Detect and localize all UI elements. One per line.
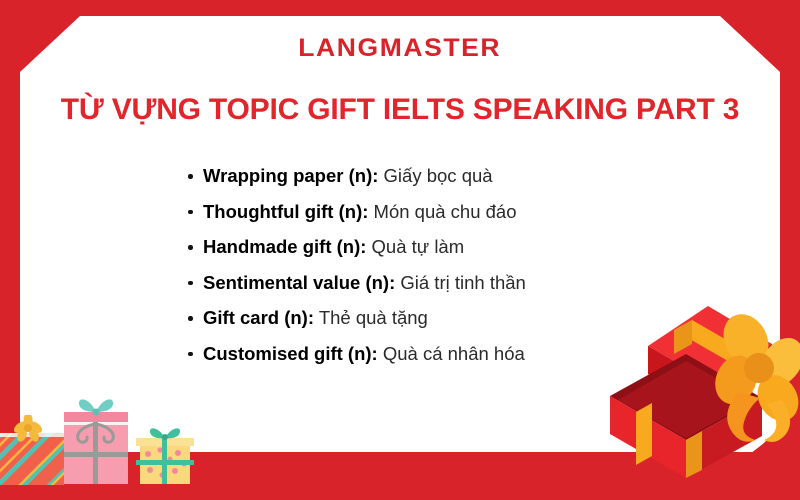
list-item: Gift card (n): Thẻ quà tặng [186, 307, 706, 329]
vocab-term: Gift card (n): [203, 307, 314, 328]
vocab-term: Thoughtful gift (n): [203, 201, 368, 222]
vocab-term: Sentimental value (n): [203, 272, 395, 293]
list-item: Wrapping paper (n): Giấy bọc quà [186, 165, 706, 187]
pink-gift-box-icon [60, 392, 132, 484]
page-title: TỪ VỰNG TOPIC GIFT IELTS SPEAKING PART 3 [0, 93, 800, 126]
vocab-term: Wrapping paper (n): [203, 165, 378, 186]
yellow-polka-dot-gift-box-icon [134, 424, 196, 484]
list-item: Thoughtful gift (n): Món quà chu đáo [186, 201, 706, 223]
vocab-gloss: Thẻ quà tặng [319, 307, 428, 328]
vocab-term: Customised gift (n): [203, 343, 378, 364]
vocab-term: Handmade gift (n): [203, 236, 366, 257]
poster-canvas: LANGMASTER TỪ VỰNG TOPIC GIFT IELTS SPEA… [0, 0, 800, 500]
vocab-gloss: Quà tự làm [372, 236, 465, 257]
vocab-gloss: Món quà chu đáo [374, 201, 517, 222]
brand-logo-text: LANGMASTER [299, 36, 502, 61]
list-item: Customised gift (n): Quà cá nhân hóa [186, 343, 706, 365]
brand-logo: LANGMASTER [0, 36, 800, 61]
vocab-gloss: Giá trị tinh thần [400, 272, 525, 293]
vocabulary-list: Wrapping paper (n): Giấy bọc quà Thought… [186, 165, 706, 378]
orange-striped-gift-box-icon [0, 415, 64, 485]
list-item: Handmade gift (n): Quà tự làm [186, 236, 706, 258]
vocab-gloss: Quà cá nhân hóa [383, 343, 525, 364]
vocab-gloss: Giấy bọc quà [384, 165, 493, 186]
list-item: Sentimental value (n): Giá trị tinh thần [186, 272, 706, 294]
